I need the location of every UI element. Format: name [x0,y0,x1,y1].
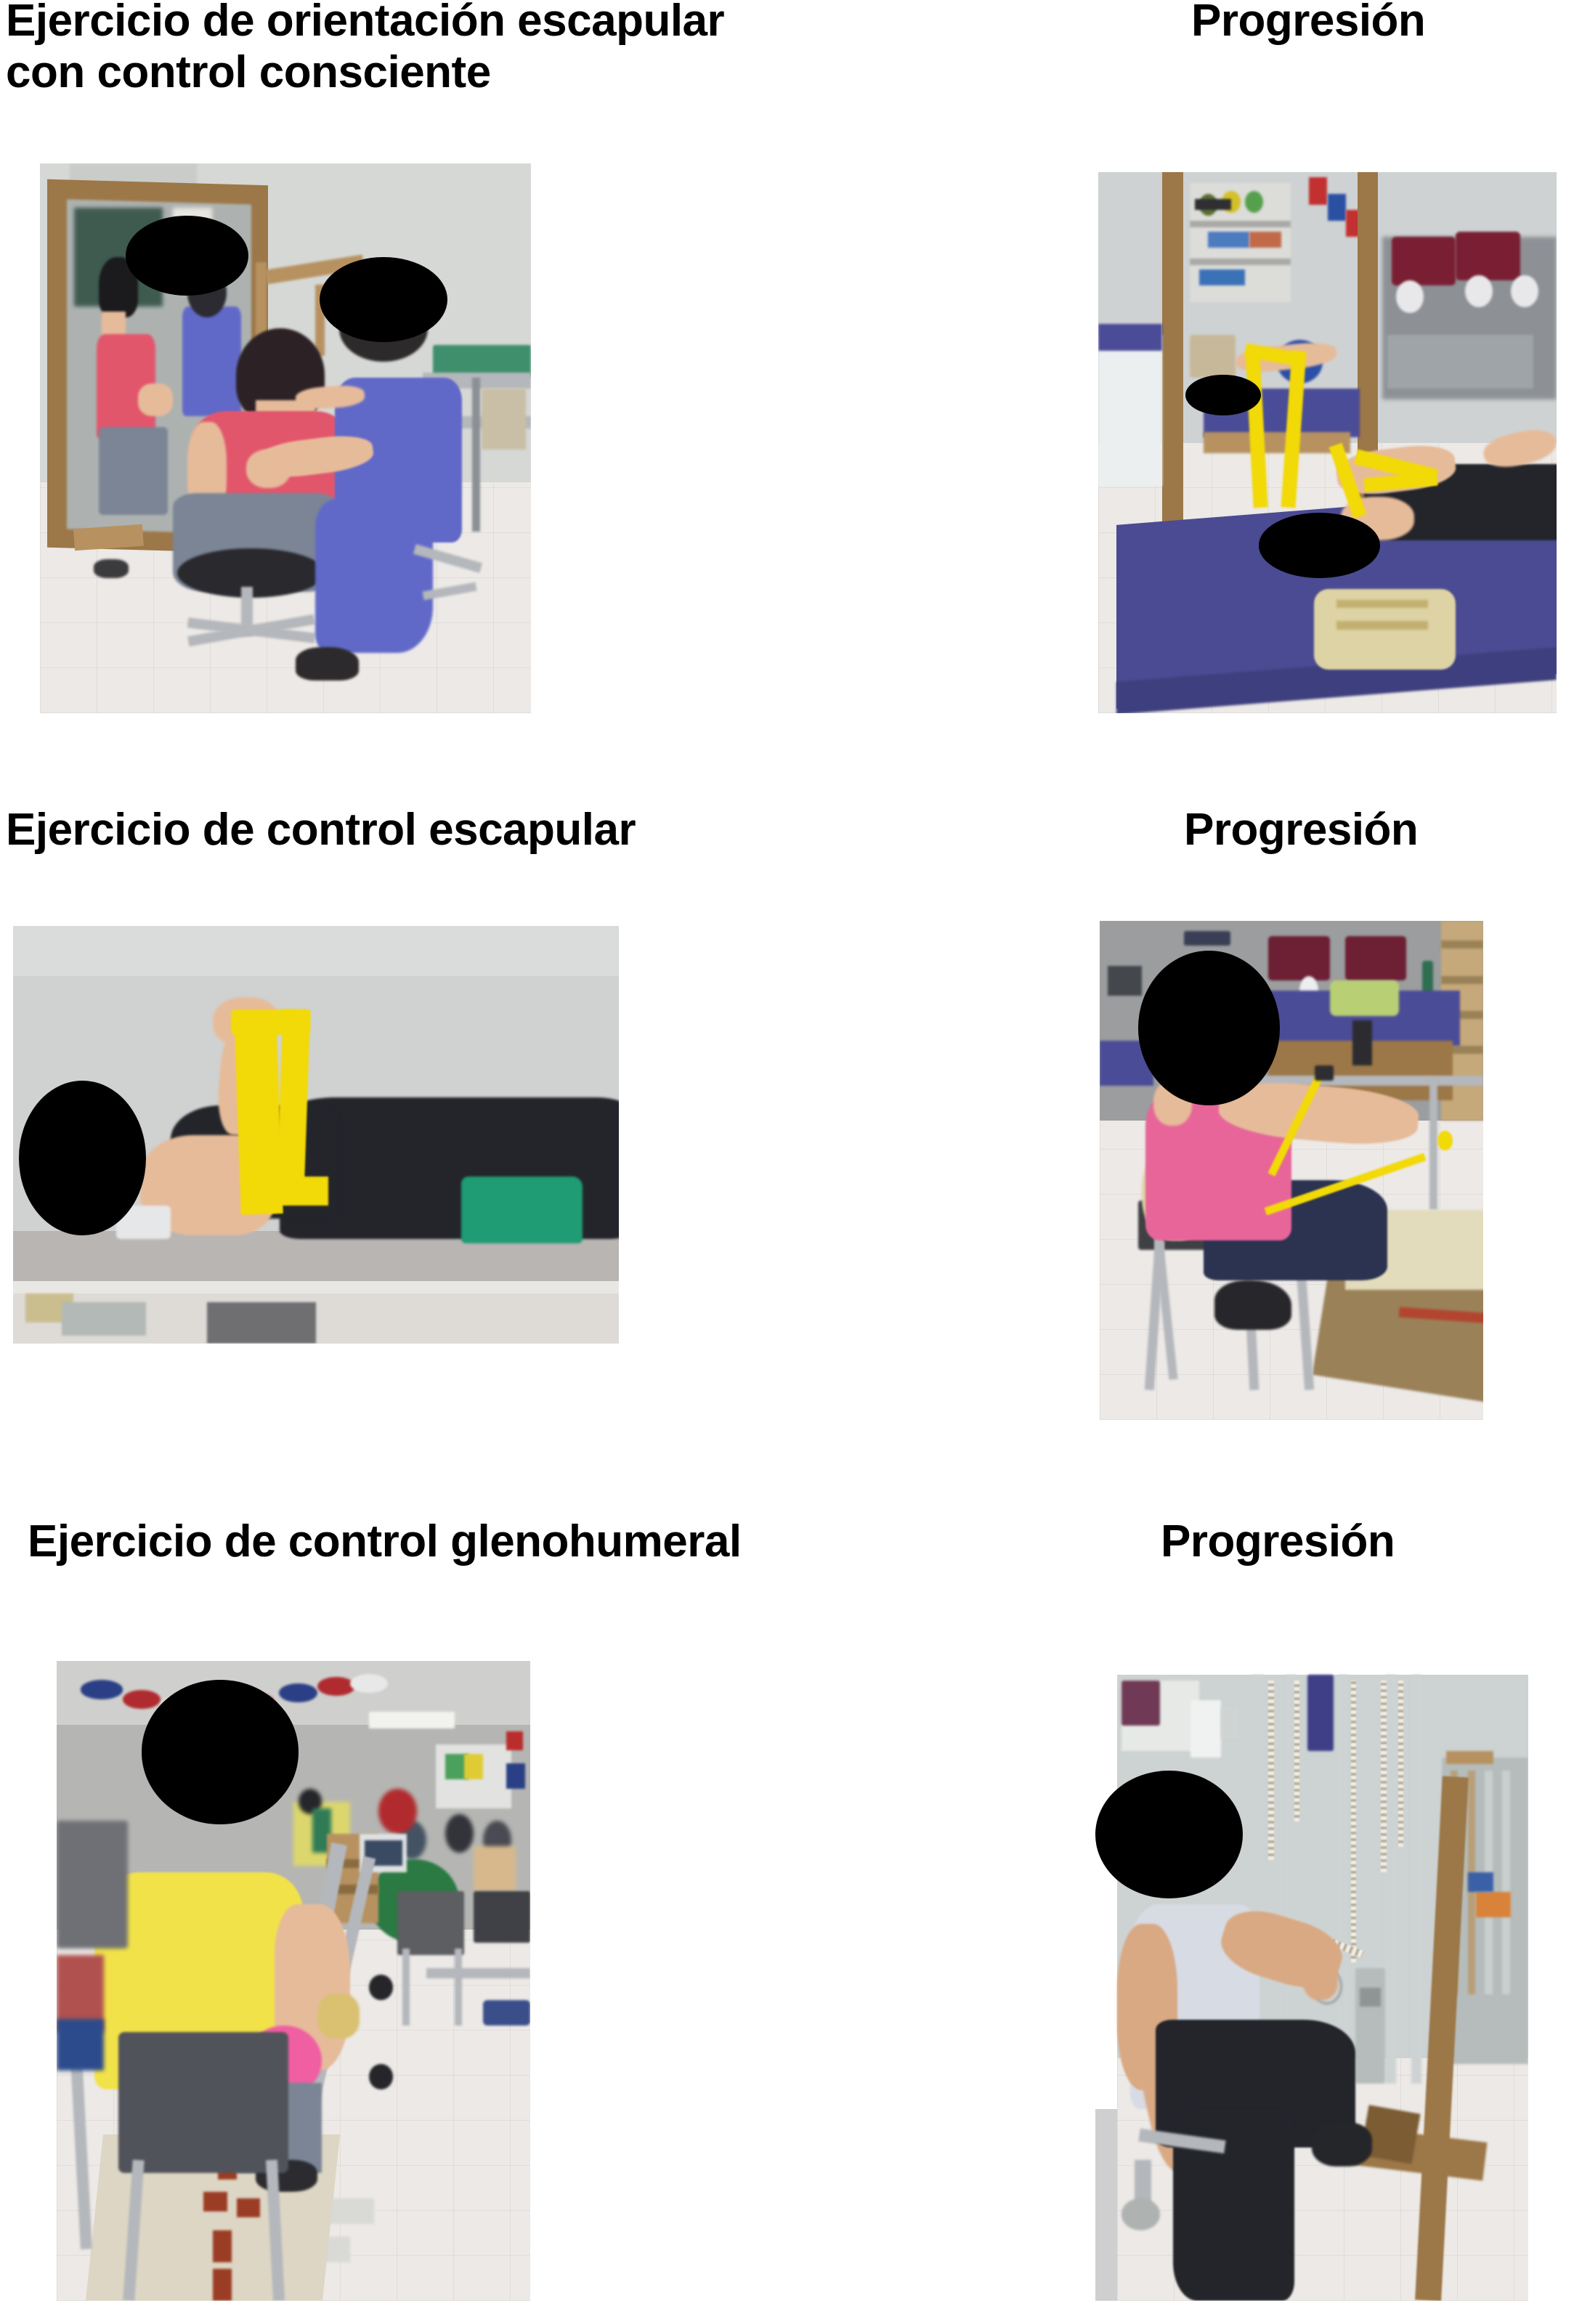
photo-glenohumeral-control-seated-ball [57,1661,530,2301]
face-blackout-patient-supine [1259,513,1380,577]
face-blackout-therapist [320,257,447,342]
face-blackout-patient-glenohumeral [142,1680,298,1824]
heading-exercise-row-1: Ejercicio de orientación escapular con c… [6,0,914,98]
heading-progression-row-3: Progresión [1161,1516,1538,1568]
heading-progression-row-2: Progresión [1184,805,1562,856]
figure-sheet: Ejercicio de orientación escapular con c… [0,0,1574,2324]
face-blackout-patient-sidelying [19,1081,146,1235]
photo-scapular-control-supine-band [13,926,619,1344]
face-blackout-patient-seated-band [1138,951,1280,1105]
heading-exercise-row-3: Ejercicio de control glenohumeral [28,1516,986,1568]
heading-progression-row-1: Progresión [1191,0,1569,47]
photo-scapular-orientation-mirror [40,163,531,713]
photo-scapular-control-progression-seated-band [1100,921,1483,1420]
face-blackout-mirror-reflection-2 [1185,375,1261,415]
photo-glenohumeral-control-progression-pulley [1095,1662,1528,2301]
face-blackout-mirror-reflection [126,216,248,296]
face-blackout-patient-pulley [1095,1771,1243,1898]
photo-scapular-orientation-progression-supine-band [1098,172,1557,713]
heading-exercise-row-2: Ejercicio de control escapular [6,805,914,856]
